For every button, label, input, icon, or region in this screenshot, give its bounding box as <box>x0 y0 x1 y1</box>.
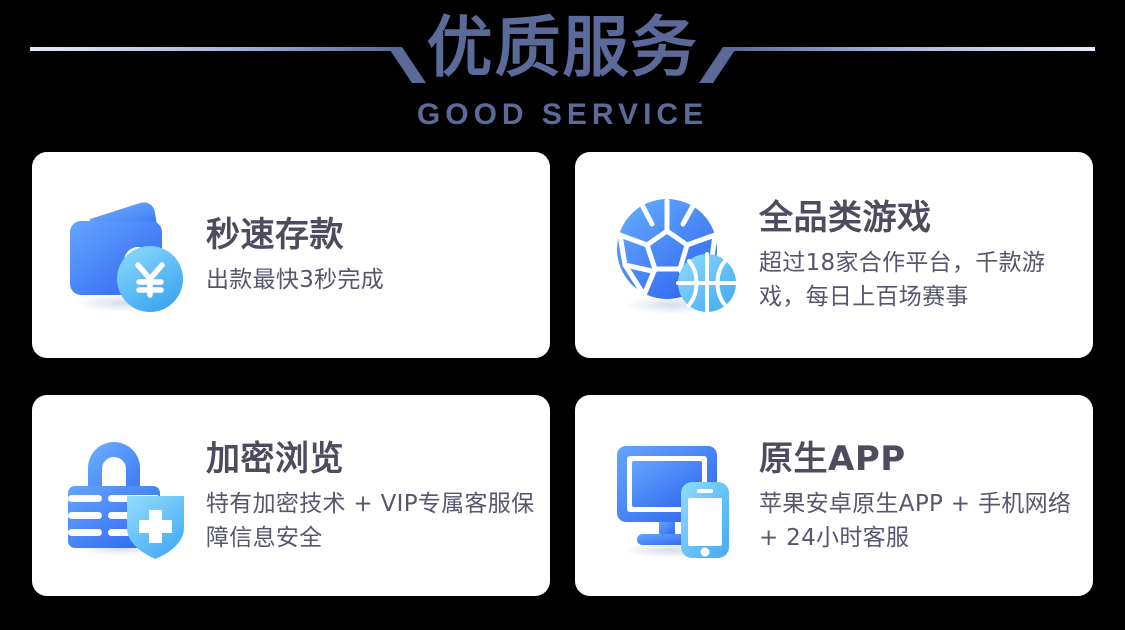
feature-card-instant-deposit[interactable]: 秒速存款 出款最快3秒完成 <box>32 152 550 358</box>
card-description: 苹果安卓原生APP + 手机网络 + 24小时客服 <box>759 487 1079 555</box>
wallet-yen-icon <box>62 191 190 319</box>
card-text-block: 原生APP 苹果安卓原生APP + 手机网络 + 24小时客服 <box>759 437 1093 555</box>
monitor-phone-icon <box>611 432 739 560</box>
page-title-cn: 优质服务 <box>0 6 1125 90</box>
card-title: 加密浏览 <box>206 437 536 481</box>
feature-card-native-app[interactable]: 原生APP 苹果安卓原生APP + 手机网络 + 24小时客服 <box>575 395 1093 596</box>
lock-shield-icon <box>62 432 190 560</box>
card-description: 出款最快3秒完成 <box>206 263 536 297</box>
card-text-block: 秒速存款 出款最快3秒完成 <box>206 213 550 297</box>
card-title: 秒速存款 <box>206 213 536 257</box>
promo-banner: 优质服务 GOOD SERVICE <box>0 0 1125 630</box>
card-description: 特有加密技术 + VIP专属客服保障信息安全 <box>206 487 536 555</box>
feature-card-encrypted-browsing[interactable]: 加密浏览 特有加密技术 + VIP专属客服保障信息安全 <box>32 395 550 596</box>
card-title: 全品类游戏 <box>759 196 1079 240</box>
page-title-en: GOOD SERVICE <box>0 97 1125 133</box>
feature-card-all-category-games[interactable]: 全品类游戏 超过18家合作平台，千款游戏，每日上百场赛事 <box>575 152 1093 358</box>
card-description: 超过18家合作平台，千款游戏，每日上百场赛事 <box>759 246 1079 314</box>
feature-card-grid: 秒速存款 出款最快3秒完成 <box>32 152 1093 596</box>
soccer-basketball-icon <box>611 191 739 319</box>
card-text-block: 加密浏览 特有加密技术 + VIP专属客服保障信息安全 <box>206 437 550 555</box>
card-text-block: 全品类游戏 超过18家合作平台，千款游戏，每日上百场赛事 <box>759 196 1093 314</box>
card-title: 原生APP <box>759 437 1079 481</box>
banner-header: 优质服务 GOOD SERVICE <box>0 0 1125 145</box>
